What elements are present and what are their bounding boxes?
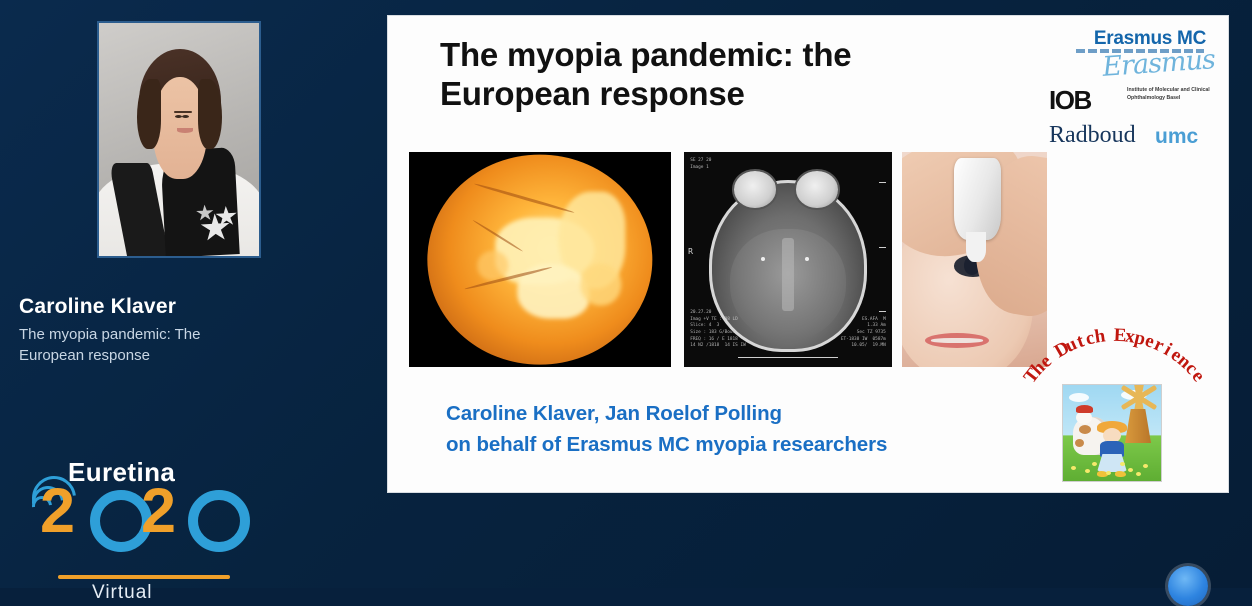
fundus-photograph	[409, 152, 671, 367]
cartoon-dutch-girl	[1097, 421, 1127, 477]
tulip-icon	[1128, 468, 1133, 472]
mri-tick	[879, 182, 886, 183]
authors-line-1: Caroline Klaver, Jan Roelof Polling	[446, 398, 887, 429]
portrait-mouth	[177, 128, 193, 133]
iob-wordmark: IOB	[1049, 85, 1091, 116]
portrait-brow	[181, 111, 192, 113]
atrophy-patch	[581, 264, 622, 306]
tulip-icon	[1085, 469, 1090, 473]
retinal-vessel	[474, 182, 574, 213]
radboud-wordmark: Radboud	[1049, 122, 1136, 149]
dutch-banner-char	[1107, 325, 1113, 347]
slide-canvas[interactable]: The myopia pandemic: the European respon…	[388, 16, 1228, 492]
mri-scale-bar	[738, 357, 838, 358]
umc-wordmark: umc	[1155, 125, 1198, 149]
authors-line-2: on behalf of Erasmus MC myopia researche…	[446, 429, 887, 460]
girl-clog	[1115, 471, 1126, 477]
tulip-icon	[1120, 462, 1125, 466]
presentation-viewer: Caroline Klaver The myopia pandemic: The…	[0, 0, 1252, 588]
eye-drop-bottle-tip	[966, 232, 986, 262]
tulip-icon	[1071, 466, 1076, 470]
iob-subtitle: Institute of Molecular and Clinical Opht…	[1127, 86, 1219, 102]
mri-tick	[879, 311, 886, 312]
logo-year: 2 2 Virtual	[36, 482, 231, 544]
mri-midline	[782, 238, 794, 311]
dutch-experience-block: The Dutch Experience	[1000, 348, 1228, 484]
eye-drop-bottle	[954, 158, 1000, 240]
dutch-banner-char: h	[1093, 325, 1107, 348]
mri-eyeball	[734, 171, 776, 208]
cloud-icon	[1069, 393, 1089, 402]
cow-spot	[1079, 425, 1091, 434]
portrait-eye	[182, 115, 189, 118]
fundus-disc	[427, 154, 652, 365]
speaker-photo	[97, 21, 261, 258]
mri-eyeball	[796, 171, 838, 208]
mri-orientation-marker: R	[688, 247, 693, 256]
child-teeth	[931, 338, 983, 343]
logo-digit-2: 2	[40, 482, 75, 540]
euretina-logo: Euretina 2 2 Virtual	[16, 452, 231, 584]
atropine-eye-drops-photo	[902, 152, 1047, 367]
player-control-button[interactable]	[1168, 566, 1208, 606]
portrait-hair-side	[137, 79, 161, 149]
logo-ring-zero-icon	[188, 490, 250, 552]
slide-authors: Caroline Klaver, Jan Roelof Polling on b…	[446, 398, 887, 460]
tulip-icon	[1143, 464, 1148, 468]
mri-overlay-text-top-left: SE 27 20 Image 1	[690, 158, 711, 171]
speaker-talk-title: The myopia pandemic: The European respon…	[19, 324, 254, 367]
speaker-name: Caroline Klaver	[19, 295, 279, 319]
portrait-eye	[175, 115, 182, 118]
scarf-star-icon	[196, 204, 215, 222]
erasmus-mc-logo: Erasmus MC Erasmus	[1043, 26, 1218, 84]
radboud-umc-logo: Radboud umc	[1043, 122, 1218, 152]
mri-tick	[879, 247, 886, 248]
logo-digit-2: 2	[141, 482, 176, 540]
iob-logo: IOB Institute of Molecular and Clinical …	[1043, 84, 1218, 120]
mri-overlay-text-bottom-left: 20.27.20 Imag +V TE : 88 LD Slice: 4 3 S…	[690, 310, 746, 350]
brain-mri-scan: R SE 27 20 Image 1 20.27.20 Imag +V TE :…	[684, 152, 892, 367]
dutch-cartoon-image	[1062, 384, 1162, 482]
institution-logos: Erasmus MC Erasmus IOB Institute of Mole…	[1043, 26, 1218, 152]
logo-underline	[58, 575, 230, 579]
windmill-tower	[1125, 409, 1151, 443]
cow-hat	[1076, 405, 1093, 413]
slide-title: The myopia pandemic: the European respon…	[440, 36, 960, 114]
mri-overlay-text-bottom-right: ES.AFA M 1.33 Am Sec TZ 9735 ET-1838 IW …	[841, 317, 886, 350]
cow-spot	[1075, 439, 1084, 447]
tulip-icon	[1136, 472, 1141, 476]
logo-virtual-label: Virtual	[92, 582, 153, 604]
